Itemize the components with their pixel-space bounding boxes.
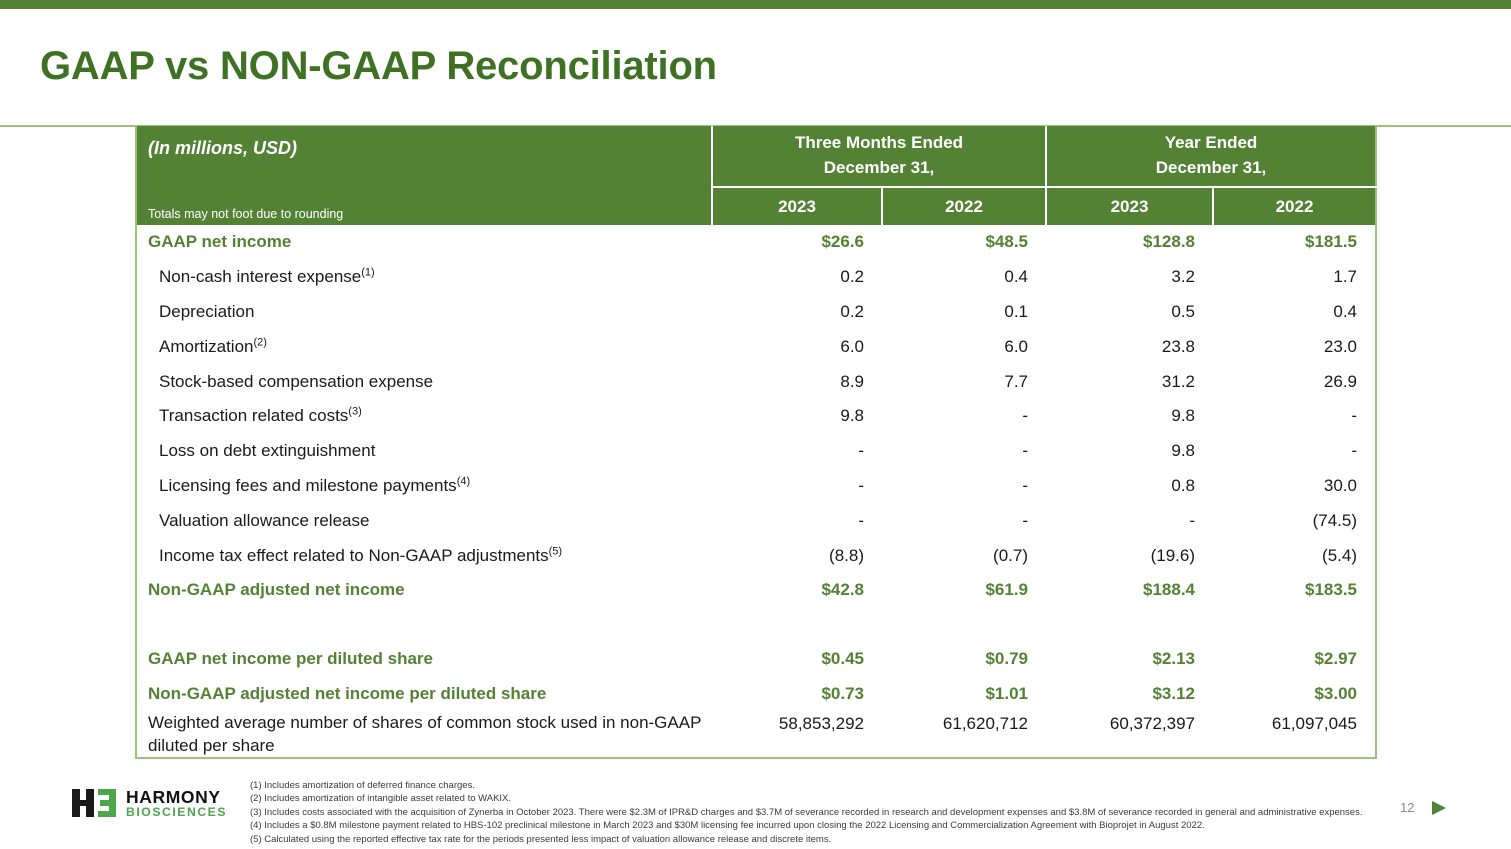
row-value: 9.8 — [1046, 434, 1213, 469]
row-label: Licensing fees and milestone payments(4) — [136, 469, 712, 504]
table-row: Non-GAAP adjusted net income per diluted… — [136, 677, 1376, 712]
footnote-ref: (2) — [253, 336, 266, 348]
footnote-ref: (5) — [549, 545, 562, 557]
row-value: 61,620,712 — [882, 711, 1046, 758]
row-value: (19.6) — [1046, 538, 1213, 573]
table-row: Non-GAAP adjusted net income$42.8$61.9$1… — [136, 573, 1376, 608]
row-label: Non-cash interest expense(1) — [136, 260, 712, 295]
table-row: Licensing fees and milestone payments(4)… — [136, 469, 1376, 504]
row-value: - — [712, 469, 882, 504]
row-value: $2.97 — [1213, 642, 1376, 677]
row-value: 0.4 — [882, 260, 1046, 295]
row-label: Income tax effect related to Non-GAAP ad… — [136, 538, 712, 573]
row-value: $0.79 — [882, 642, 1046, 677]
row-value: 0.5 — [1046, 295, 1213, 330]
row-value: 9.8 — [712, 399, 882, 434]
next-slide-arrow-icon[interactable] — [1430, 800, 1448, 816]
table-row: Transaction related costs(3)9.8-9.8- — [136, 399, 1376, 434]
row-value: 26.9 — [1213, 364, 1376, 399]
spacer-cell — [1046, 608, 1213, 642]
row-value: $1.01 — [882, 677, 1046, 712]
row-value: - — [712, 503, 882, 538]
row-value: 6.0 — [882, 329, 1046, 364]
reconciliation-table-wrapper: (In millions, USD) Three Months Ended De… — [135, 126, 1375, 771]
row-value: - — [882, 503, 1046, 538]
table-row: Depreciation0.20.10.50.4 — [136, 295, 1376, 330]
footnote-item: (5) Calculated using the reported effect… — [250, 833, 1370, 846]
unit-label: (In millions, USD) — [136, 126, 712, 187]
row-value: - — [1213, 399, 1376, 434]
row-value: 60,372,397 — [1046, 711, 1213, 758]
table-row: Loss on debt extinguishment--9.8- — [136, 434, 1376, 469]
table-row: Weighted average number of shares of com… — [136, 711, 1376, 758]
column-header-fy-2022: 2022 — [1213, 187, 1376, 225]
row-value: - — [882, 434, 1046, 469]
row-value: $0.45 — [712, 642, 882, 677]
row-value: (74.5) — [1213, 503, 1376, 538]
row-value: (5.4) — [1213, 538, 1376, 573]
row-label: Amortization(2) — [136, 329, 712, 364]
row-value: 23.0 — [1213, 329, 1376, 364]
column-header-fy-2023: 2023 — [1046, 187, 1213, 225]
table-row: Amortization(2)6.06.023.823.0 — [136, 329, 1376, 364]
table-spacer-row — [136, 608, 1376, 642]
row-label: Transaction related costs(3) — [136, 399, 712, 434]
table-body: GAAP net income$26.6$48.5$128.8$181.5Non… — [136, 225, 1376, 758]
header-group-year-ended: Year Ended December 31, — [1046, 126, 1376, 187]
table-row: Valuation allowance release---(74.5) — [136, 503, 1376, 538]
top-accent-bar — [0, 0, 1511, 9]
table-row: Stock-based compensation expense8.97.731… — [136, 364, 1376, 399]
page-number: 12 — [1400, 800, 1414, 815]
table-row: GAAP net income$26.6$48.5$128.8$181.5 — [136, 225, 1376, 260]
column-header-q4-2022: 2022 — [882, 187, 1046, 225]
logo-wordmark-biosciences: BIOSCIENCES — [126, 805, 227, 819]
row-value: 0.2 — [712, 260, 882, 295]
row-value: $61.9 — [882, 573, 1046, 608]
row-value: 6.0 — [712, 329, 882, 364]
row-value: $42.8 — [712, 573, 882, 608]
footnote-ref: (4) — [457, 475, 470, 487]
table-row: Non-cash interest expense(1)0.20.43.21.7 — [136, 260, 1376, 295]
table-header-year-row: Totals may not foot due to rounding 2023… — [136, 187, 1376, 225]
header-group-three-months-line2: December 31, — [824, 158, 935, 177]
row-label: GAAP net income per diluted share — [136, 642, 712, 677]
reconciliation-table: (In millions, USD) Three Months Ended De… — [135, 126, 1377, 759]
harmony-biosciences-logo: HARMONY BIOSCIENCES — [72, 786, 247, 822]
row-value: 3.2 — [1046, 260, 1213, 295]
row-value: $188.4 — [1046, 573, 1213, 608]
header-group-three-months-line1: Three Months Ended — [795, 133, 963, 152]
spacer-cell — [712, 608, 882, 642]
spacer-cell — [1213, 608, 1376, 642]
row-label: GAAP net income — [136, 225, 712, 260]
header-group-three-months: Three Months Ended December 31, — [712, 126, 1046, 187]
row-label: Valuation allowance release — [136, 503, 712, 538]
row-label: Stock-based compensation expense — [136, 364, 712, 399]
row-value: 0.2 — [712, 295, 882, 330]
page-title: GAAP vs NON-GAAP Reconciliation — [40, 44, 717, 89]
row-value: 31.2 — [1046, 364, 1213, 399]
row-value: (0.7) — [882, 538, 1046, 573]
footnotes-block: (1) Includes amortization of deferred fi… — [250, 779, 1370, 846]
slide-canvas: GAAP vs NON-GAAP Reconciliation (In mill… — [0, 0, 1511, 849]
row-value: $181.5 — [1213, 225, 1376, 260]
row-value: $2.13 — [1046, 642, 1213, 677]
footnote-item: (3) Includes costs associated with the a… — [250, 806, 1370, 819]
column-header-q4-2023: 2023 — [712, 187, 882, 225]
table-row: Income tax effect related to Non-GAAP ad… — [136, 538, 1376, 573]
row-value: 58,853,292 — [712, 711, 882, 758]
row-label: Loss on debt extinguishment — [136, 434, 712, 469]
footnote-item: (2) Includes amortization of intangible … — [250, 792, 1370, 805]
footnote-item: (1) Includes amortization of deferred fi… — [250, 779, 1370, 792]
table-row: GAAP net income per diluted share$0.45$0… — [136, 642, 1376, 677]
h3-mark-icon — [72, 789, 120, 817]
row-label: Non-GAAP adjusted net income per diluted… — [136, 677, 712, 712]
row-value: $26.6 — [712, 225, 882, 260]
row-value: - — [1213, 434, 1376, 469]
row-label: Non-GAAP adjusted net income — [136, 573, 712, 608]
rounding-note: Totals may not foot due to rounding — [136, 187, 712, 225]
row-value: (8.8) — [712, 538, 882, 573]
footnote-ref: (1) — [361, 267, 374, 279]
row-label: Depreciation — [136, 295, 712, 330]
row-value: 0.8 — [1046, 469, 1213, 504]
row-value: - — [882, 399, 1046, 434]
row-value: 8.9 — [712, 364, 882, 399]
row-value: $0.73 — [712, 677, 882, 712]
row-value: $48.5 — [882, 225, 1046, 260]
row-value: $183.5 — [1213, 573, 1376, 608]
table-header: (In millions, USD) Three Months Ended De… — [136, 126, 1376, 225]
row-value: $3.12 — [1046, 677, 1213, 712]
spacer-cell — [136, 608, 712, 642]
row-value: 0.1 — [882, 295, 1046, 330]
footnote-item: (4) Includes a $0.8M milestone payment r… — [250, 819, 1370, 832]
row-value: - — [882, 469, 1046, 504]
row-value: 30.0 — [1213, 469, 1376, 504]
row-value: - — [1046, 503, 1213, 538]
row-value: 61,097,045 — [1213, 711, 1376, 758]
table-header-group-row: (In millions, USD) Three Months Ended De… — [136, 126, 1376, 187]
row-value: 9.8 — [1046, 399, 1213, 434]
row-value: 23.8 — [1046, 329, 1213, 364]
footnote-ref: (3) — [348, 406, 361, 418]
row-value: $128.8 — [1046, 225, 1213, 260]
row-value: 1.7 — [1213, 260, 1376, 295]
row-label: Weighted average number of shares of com… — [136, 711, 712, 758]
row-value: 0.4 — [1213, 295, 1376, 330]
spacer-cell — [882, 608, 1046, 642]
row-value: 7.7 — [882, 364, 1046, 399]
row-value: - — [712, 434, 882, 469]
row-value: $3.00 — [1213, 677, 1376, 712]
header-group-year-ended-line1: Year Ended — [1165, 133, 1258, 152]
header-group-year-ended-line2: December 31, — [1156, 158, 1267, 177]
